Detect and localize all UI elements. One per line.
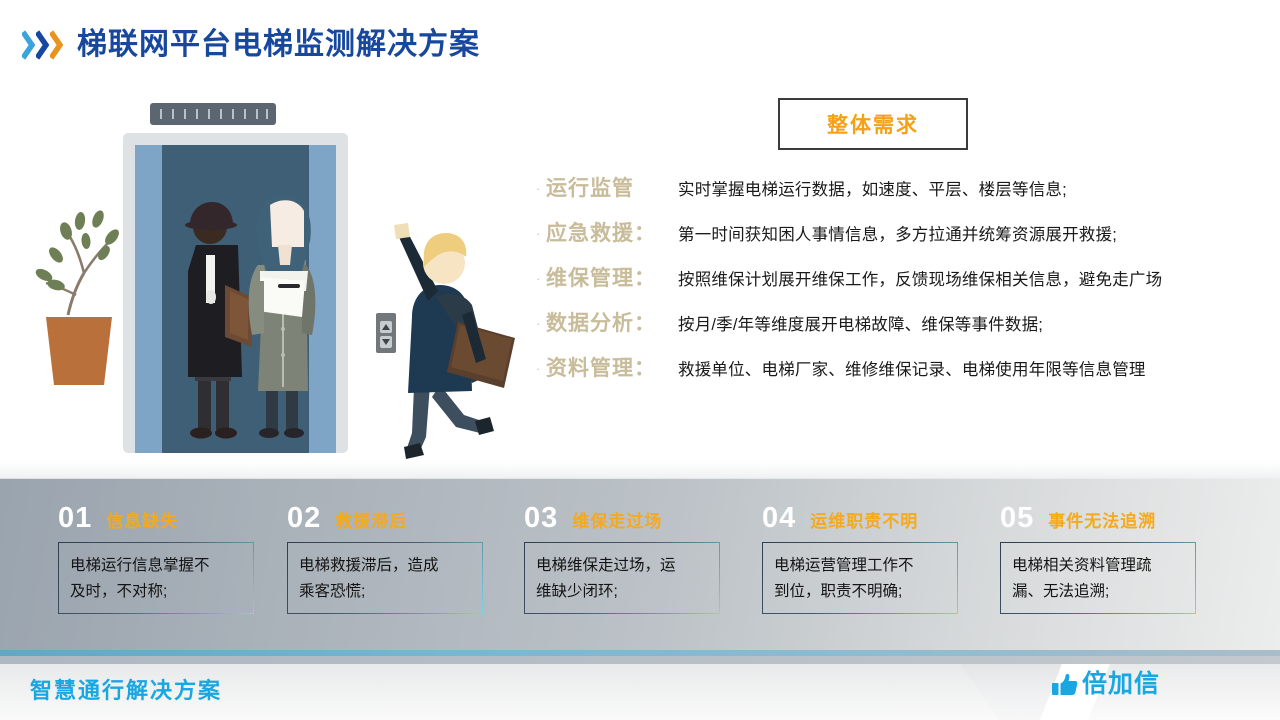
pain-point-line-2: 漏、无法追溯; bbox=[1012, 579, 1184, 605]
elevator-call-panel bbox=[376, 313, 396, 353]
requirement-label: 应急救援： bbox=[546, 217, 678, 247]
pain-point-line-1: 电梯运营管理工作不 bbox=[774, 557, 914, 574]
brand-logo: 倍加信 bbox=[1052, 672, 1160, 697]
overall-needs-box: 整体需求 bbox=[778, 98, 968, 150]
thumbs-up-icon bbox=[1052, 673, 1078, 697]
pain-point-head: 02 救援滞后 bbox=[287, 504, 483, 533]
pain-point-head: 05 事件无法追溯 bbox=[1000, 504, 1196, 533]
requirement-text: 救援单位、电梯厂家、维修维保记录、电梯使用年限等信息管理 bbox=[678, 356, 1146, 380]
list-item: · 数据分析： 按月/季/年等维度展开电梯故障、维保等事件数据; bbox=[536, 307, 1266, 352]
pain-point-number: 03 bbox=[524, 504, 558, 533]
list-item: · 资料管理： 救援单位、电梯厂家、维修维保记录、电梯使用年限等信息管理 bbox=[536, 352, 1266, 397]
requirement-label: 数据分析： bbox=[546, 307, 678, 337]
pain-point-head: 03 维保走过场 bbox=[524, 504, 720, 533]
pain-point-line-2: 维缺少闭环; bbox=[536, 579, 708, 605]
pain-point-line-1: 电梯维保走过场，运 bbox=[536, 557, 676, 574]
requirements-list: · 运行监管 实时掌握电梯运行数据，如速度、平层、楼层等信息; · 应急救援： … bbox=[536, 172, 1266, 397]
pain-point-card: 04 运维职责不明 电梯运营管理工作不 到位，职责不明确; bbox=[762, 504, 958, 614]
requirement-text: 按月/季/年等维度展开电梯故障、维保等事件数据; bbox=[678, 311, 1043, 335]
overall-needs-label: 整体需求 bbox=[827, 109, 919, 139]
pain-point-description: 电梯维保走过场，运 维缺少闭环; bbox=[524, 542, 720, 614]
pain-point-card: 01 信息缺失 电梯运行信息掌握不 及时，不对称; bbox=[58, 504, 254, 614]
pain-point-line-1: 电梯救援滞后，造成 bbox=[299, 557, 439, 574]
requirement-text: 按照维保计划展开维保工作，反馈现场维保相关信息，避免走广场 bbox=[678, 266, 1162, 290]
pain-point-line-1: 电梯相关资料管理疏 bbox=[1012, 557, 1152, 574]
slide-header: 梯联网平台电梯监测解决方案 bbox=[22, 30, 480, 60]
chevron-right-icon bbox=[50, 30, 63, 60]
pain-point-title: 运维职责不明 bbox=[810, 513, 918, 530]
elevator-scene-illustration bbox=[20, 85, 520, 460]
pain-point-title: 救援滞后 bbox=[335, 513, 407, 530]
pain-point-description: 电梯相关资料管理疏 漏、无法追溯; bbox=[1000, 542, 1196, 614]
pain-point-line-1: 电梯运行信息掌握不 bbox=[70, 557, 210, 574]
pain-point-card: 03 维保走过场 电梯维保走过场，运 维缺少闭环; bbox=[524, 504, 720, 614]
pain-point-title: 维保走过场 bbox=[572, 513, 662, 530]
requirement-text: 实时掌握电梯运行数据，如速度、平层、楼层等信息; bbox=[678, 176, 1067, 200]
requirement-label: 维保管理： bbox=[546, 262, 678, 292]
footer-title: 智慧通行解决方案 bbox=[30, 674, 222, 708]
brand-name: 倍加信 bbox=[1082, 672, 1160, 697]
chevron-group-icon bbox=[22, 30, 63, 60]
bullet-dot-icon: · bbox=[536, 317, 546, 330]
requirement-label: 资料管理： bbox=[546, 352, 678, 382]
elevator-floor-indicator bbox=[150, 103, 276, 125]
bullet-dot-icon: · bbox=[536, 272, 546, 285]
pain-point-head: 01 信息缺失 bbox=[58, 504, 254, 533]
page-title: 梯联网平台电梯监测解决方案 bbox=[77, 30, 480, 60]
chevron-right-icon bbox=[22, 30, 35, 60]
pain-point-number: 04 bbox=[762, 504, 796, 533]
bullet-dot-icon: · bbox=[536, 182, 546, 195]
pain-point-line-2: 及时，不对称; bbox=[70, 579, 242, 605]
pain-point-number: 01 bbox=[58, 504, 92, 533]
list-item: · 运行监管 实时掌握电梯运行数据，如速度、平层、楼层等信息; bbox=[536, 172, 1266, 217]
pain-point-number: 05 bbox=[1000, 504, 1034, 533]
requirement-label: 运行监管 bbox=[546, 172, 678, 202]
slide-root: 梯联网平台电梯监测解决方案 bbox=[0, 0, 1280, 720]
pain-point-line-2: 乘客恐慌; bbox=[299, 579, 471, 605]
list-item: · 应急救援： 第一时间获知困人事情信息，多方拉通并统筹资源展开救援; bbox=[536, 217, 1266, 262]
pain-point-title: 事件无法追溯 bbox=[1048, 513, 1156, 530]
bullet-dot-icon: · bbox=[536, 362, 546, 375]
pain-point-description: 电梯救援滞后，造成 乘客恐慌; bbox=[287, 542, 483, 614]
list-item: · 维保管理： 按照维保计划展开维保工作，反馈现场维保相关信息，避免走广场 bbox=[536, 262, 1266, 307]
person-pressing-call-button bbox=[394, 223, 515, 459]
pain-point-head: 04 运维职责不明 bbox=[762, 504, 958, 533]
pain-point-description: 电梯运营管理工作不 到位，职责不明确; bbox=[762, 542, 958, 614]
pain-point-title: 信息缺失 bbox=[106, 513, 178, 530]
pain-point-number: 02 bbox=[287, 504, 321, 533]
pain-point-line-2: 到位，职责不明确; bbox=[774, 579, 946, 605]
pain-point-card: 02 救援滞后 电梯救援滞后，造成 乘客恐慌; bbox=[287, 504, 483, 614]
footer-gray-bar bbox=[0, 656, 1280, 664]
pain-point-description: 电梯运行信息掌握不 及时，不对称; bbox=[58, 542, 254, 614]
potted-plant-icon bbox=[34, 209, 122, 385]
requirement-text: 第一时间获知困人事情信息，多方拉通并统筹资源展开救援; bbox=[678, 221, 1117, 245]
chevron-right-icon bbox=[36, 30, 49, 60]
bullet-dot-icon: · bbox=[536, 227, 546, 240]
pain-point-card: 05 事件无法追溯 电梯相关资料管理疏 漏、无法追溯; bbox=[1000, 504, 1196, 614]
